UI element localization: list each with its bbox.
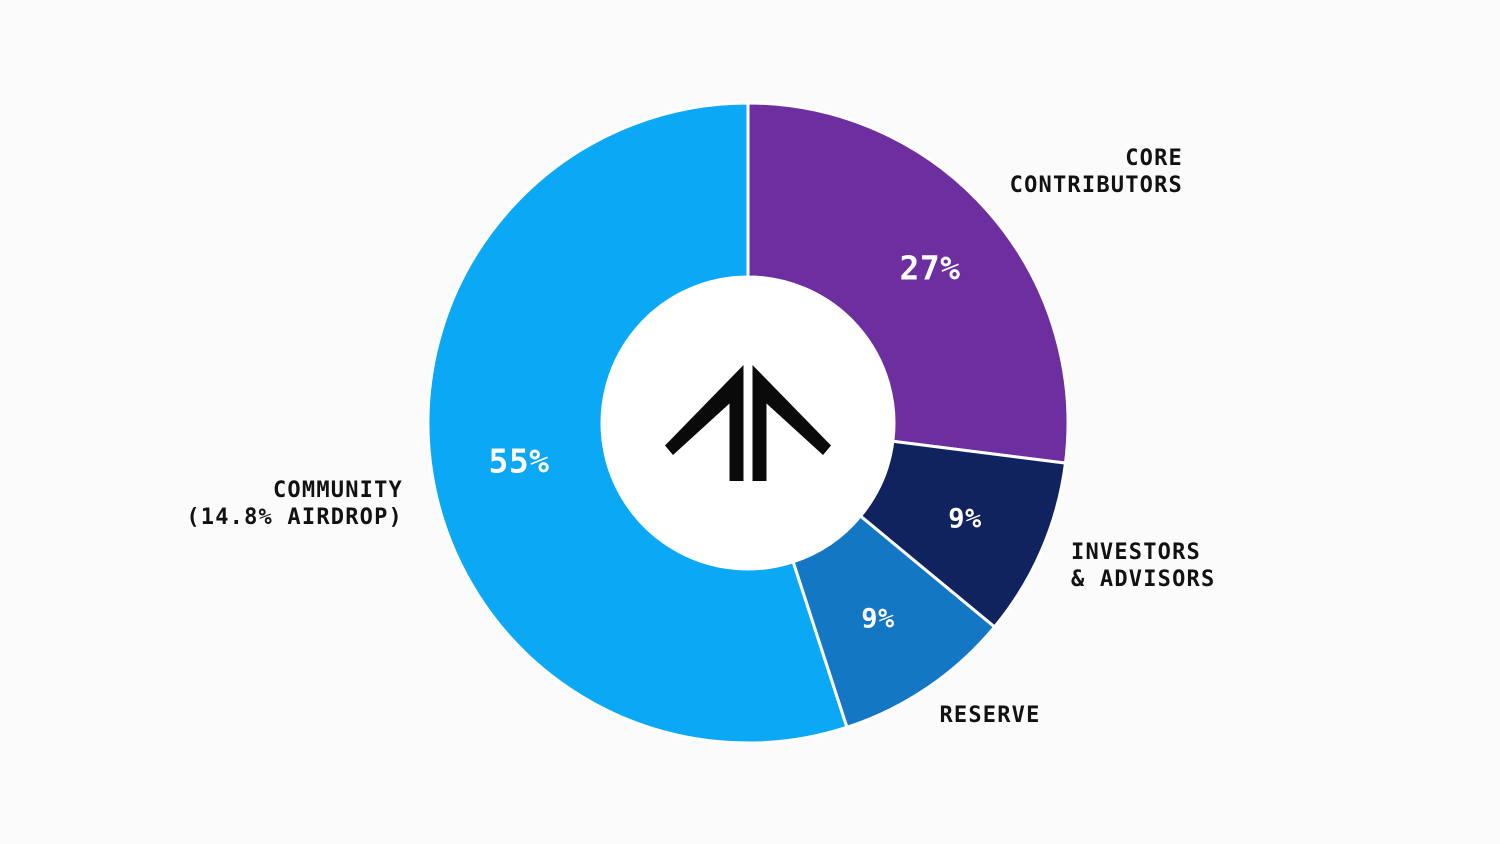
- label-line: CORE: [1010, 146, 1183, 173]
- slice-category-label: CORECONTRIBUTORS: [1010, 146, 1183, 200]
- logo-right-arrow: [753, 365, 832, 481]
- slice-percent-label: 9%: [861, 604, 895, 635]
- slice-category-label: COMMUNITY(14.8% AIRDROP): [186, 478, 403, 532]
- slice-percent-label: 27%: [899, 249, 960, 288]
- double-up-arrow-icon: [663, 363, 833, 483]
- donut-chart: 27%9%9%55% CORECONTRIBUTORSINVESTORS& AD…: [0, 0, 1500, 844]
- label-line: (14.8% AIRDROP): [186, 505, 403, 532]
- slice-category-label: RESERVE: [939, 703, 1040, 730]
- slice-percent-label: 55%: [488, 442, 549, 481]
- label-line: CONTRIBUTORS: [1010, 173, 1183, 200]
- slice-percent-label: 9%: [948, 504, 982, 535]
- label-line: RESERVE: [939, 703, 1040, 730]
- label-line: INVESTORS: [1071, 540, 1215, 567]
- label-line: & ADVISORS: [1071, 567, 1215, 594]
- label-line: COMMUNITY: [186, 478, 403, 505]
- logo-left-arrow: [665, 365, 744, 481]
- slice-category-label: INVESTORS& ADVISORS: [1071, 540, 1215, 594]
- brand-logo-icon: [663, 363, 833, 483]
